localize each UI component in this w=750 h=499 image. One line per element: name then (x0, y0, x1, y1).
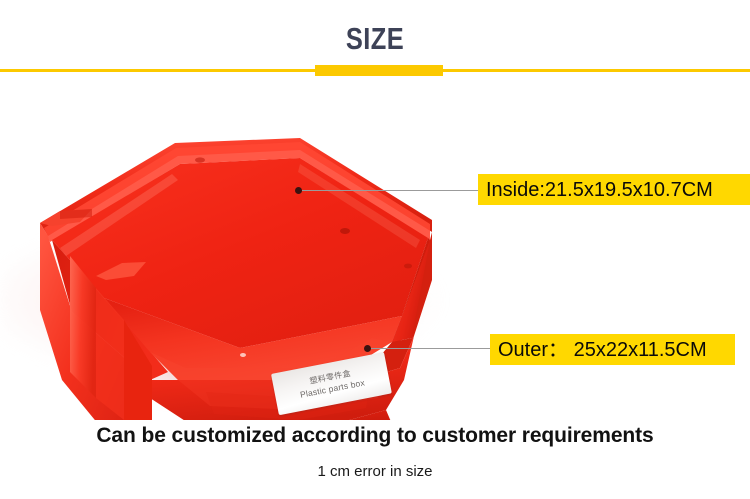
callout-leader-line-outer (371, 348, 490, 349)
callout-leader-line-inside (302, 190, 478, 191)
callout-outer-dimensions: Outer： 25x22x11.5CM (490, 334, 735, 365)
callout-outer-text: Outer： 25x22x11.5CM (498, 340, 707, 360)
callout-inside-text: Inside:21.5x19.5x10.7CM (486, 180, 713, 200)
page-title: SIZE (68, 22, 683, 56)
header-divider-accent (315, 65, 443, 76)
callout-anchor-dot-inside (295, 187, 302, 194)
product-size-banner: SIZE (0, 0, 750, 499)
callout-inside-dimensions: Inside:21.5x19.5x10.7CM (478, 174, 750, 205)
callout-anchor-dot-outer (364, 345, 371, 352)
product-photo: 塑料零件盒 Plastic parts box (0, 80, 750, 420)
footer-note: 1 cm error in size (0, 463, 750, 480)
footer-headline: Can be customized according to customer … (0, 424, 750, 448)
